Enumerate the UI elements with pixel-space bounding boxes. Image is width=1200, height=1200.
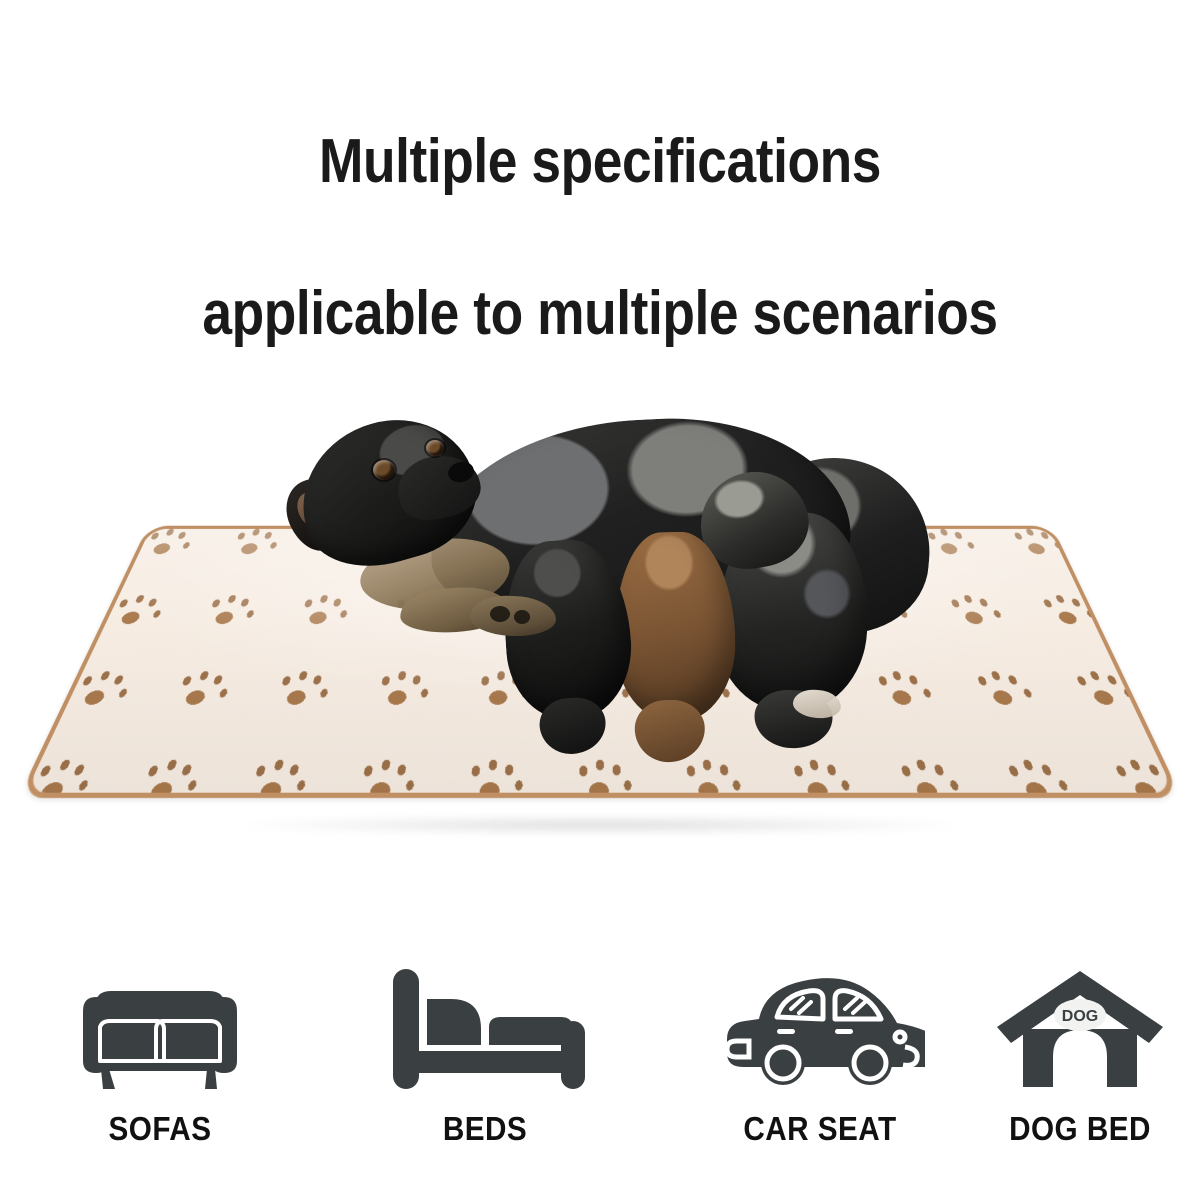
puppy-tan-leg — [634, 700, 705, 763]
headline-line-2: applicable to multiple scenarios — [84, 276, 1116, 352]
feature-beds[interactable]: BEDS — [355, 965, 615, 1148]
bed-icon — [385, 965, 585, 1090]
bed-icon-box — [355, 965, 615, 1090]
mother-dog-eye — [373, 460, 395, 480]
dog-house-icon: DOG — [995, 965, 1165, 1090]
feature-label-car-seat: CAR SEAT — [703, 1110, 937, 1148]
dog-sign-text: DOG — [1062, 1008, 1098, 1025]
feature-label-beds: BEDS — [368, 1110, 602, 1148]
mother-dog-toe — [514, 610, 530, 624]
feature-sofas[interactable]: SOFAS — [30, 965, 290, 1148]
sofa-icon — [75, 965, 245, 1090]
feature-label-dog-bed: DOG BED — [963, 1110, 1197, 1148]
mother-dog-eye — [426, 440, 444, 456]
dog-house-icon-box: DOG — [950, 965, 1200, 1090]
headline-line-1: Multiple specifications — [84, 124, 1116, 200]
sofa-icon-box — [30, 965, 290, 1090]
feature-label-sofas: SOFAS — [43, 1110, 277, 1148]
car-icon — [715, 965, 925, 1090]
page-title: Multiple specifications applicable to mu… — [84, 48, 1116, 428]
puppy-black-leg — [538, 696, 608, 756]
feature-car-seat[interactable]: CAR SEAT — [690, 965, 950, 1148]
dog-family-group — [0, 400, 1200, 870]
hero-product-photo — [0, 400, 1200, 870]
use-case-row: SOFAS BEDS — [0, 965, 1200, 1200]
mother-dog-toe — [490, 606, 510, 622]
car-icon-box — [690, 965, 950, 1090]
feature-dog-bed[interactable]: DOG DOG BED — [950, 965, 1200, 1148]
